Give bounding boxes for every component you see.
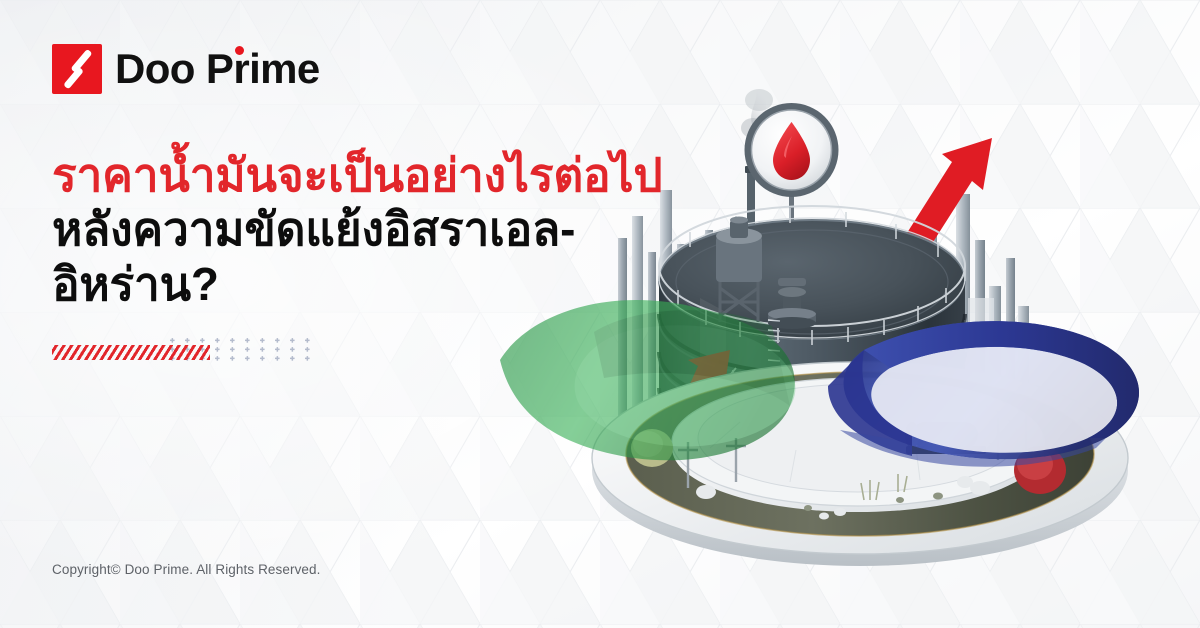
- headline-line-1: ราคาน้ำมันจะเป็นอย่างไรต่อไป: [52, 148, 692, 202]
- banner-canvas: Doo Prime ราคาน้ำมันจะเป็นอย่างไรต่อไป ห…: [0, 0, 1200, 628]
- brand-name: Doo Prime: [115, 48, 320, 90]
- doo-prime-mark-icon: [52, 44, 102, 94]
- headline-line-3: อิหร่าน?: [52, 257, 692, 311]
- headline-block: ราคาน้ำมันจะเป็นอย่างไรต่อไป หลังความขัด…: [52, 148, 692, 311]
- logo-i-dot-icon: [235, 46, 244, 55]
- brand-logo[interactable]: Doo Prime: [52, 44, 320, 94]
- decorative-rule: [52, 337, 312, 363]
- copyright-text: Copyright© Doo Prime. All Rights Reserve…: [52, 562, 321, 577]
- red-diagonal-hatch-bar: [52, 345, 210, 360]
- headline-line-2: หลังความขัดแย้งอิสราเอล-: [52, 202, 692, 256]
- green-ribbon: [500, 300, 795, 460]
